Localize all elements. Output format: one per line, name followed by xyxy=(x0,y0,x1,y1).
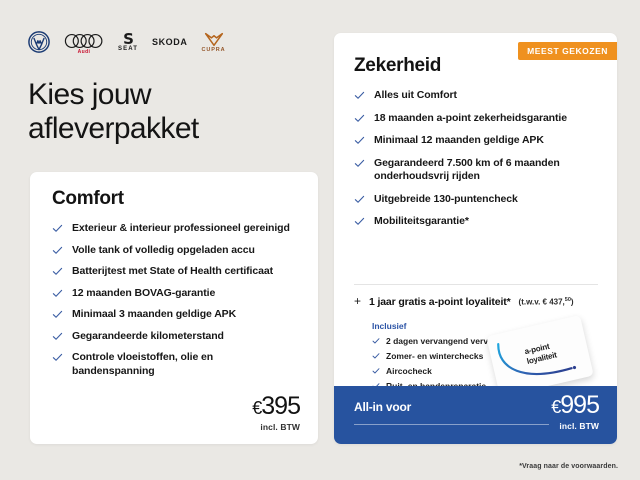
feature-text: Batterijtest met State of Health certifi… xyxy=(72,265,273,279)
feature-text: 12 maanden BOVAG-garantie xyxy=(72,287,215,301)
check-icon xyxy=(52,331,63,342)
check-icon xyxy=(52,288,63,299)
comfort-price-block: €395 incl. BTW xyxy=(252,393,300,432)
audi-wordmark: Audi xyxy=(78,49,91,55)
currency-symbol: € xyxy=(551,397,560,417)
list-item: Minimaal 3 maanden geldige APK xyxy=(52,308,298,322)
check-icon xyxy=(52,309,63,320)
plus-icon: + xyxy=(354,295,361,307)
check-icon xyxy=(52,223,63,234)
check-icon xyxy=(354,194,365,205)
status-badge: MEEST GEKOZEN xyxy=(518,42,617,60)
skoda-logo-icon: SKODA xyxy=(152,37,188,47)
feature-text: Exterieur & interieur professioneel gere… xyxy=(72,222,290,236)
list-item: 18 maanden a-point zekerheidsgarantie xyxy=(354,112,598,126)
seat-logo-icon: S SEAT xyxy=(118,33,138,52)
all-in-price-note: incl. BTW xyxy=(551,421,599,431)
seat-wordmark: SEAT xyxy=(118,46,138,52)
check-icon xyxy=(52,352,63,363)
zekerheid-package-card[interactable]: MEEST GEKOZEN Zekerheid Alles uit Comfor… xyxy=(334,33,617,444)
loyalty-bonus-row: + 1 jaar gratis a-point loyaliteit* (t.w… xyxy=(354,295,604,308)
list-item: Gegarandeerde kilometerstand xyxy=(52,330,298,344)
check-icon xyxy=(52,245,63,256)
skoda-wordmark: SKODA xyxy=(152,37,188,47)
audi-logo-icon: Audi xyxy=(64,30,104,55)
check-icon xyxy=(52,266,63,277)
inclusief-text: Aircocheck xyxy=(386,366,432,377)
feature-text: Uitgebreide 130-puntencheck xyxy=(374,193,518,207)
list-item: Gegarandeerd 7.500 km of 6 maanden onder… xyxy=(354,157,598,184)
check-icon xyxy=(354,135,365,146)
feature-text: Controle vloeistoffen, olie en bandenspa… xyxy=(72,351,298,378)
currency-symbol: € xyxy=(252,398,261,418)
seat-mark: S xyxy=(123,33,133,46)
price-value: 395 xyxy=(261,392,300,420)
page-title: Kies jouw afleverpakket xyxy=(28,78,308,146)
check-icon xyxy=(372,367,380,375)
feature-text: Mobiliteitsgarantie* xyxy=(374,215,469,229)
cupra-wordmark: CUPRA xyxy=(201,47,225,53)
price-value: 995 xyxy=(560,391,599,419)
all-in-price-bar: All-in voor €995 incl. BTW xyxy=(334,386,617,444)
section-divider xyxy=(354,284,598,285)
comfort-price-amount: €395 xyxy=(252,393,300,421)
list-item: Batterijtest met State of Health certifi… xyxy=(52,265,298,279)
inclusief-text: 2 dagen vervangend vervoer xyxy=(386,336,501,347)
pricing-comparison-page: Audi S SEAT SKODA CUPRA Kies jouw afleve… xyxy=(0,0,640,480)
list-item: Uitgebreide 130-puntencheck xyxy=(354,193,598,207)
cupra-logo-icon: CUPRA xyxy=(201,32,225,53)
list-item: Mobiliteitsgarantie* xyxy=(354,215,598,229)
zekerheid-title: Zekerheid xyxy=(354,55,441,77)
brand-logo-bar: Audi S SEAT SKODA CUPRA xyxy=(28,28,226,56)
bonus-value-suffix: ) xyxy=(571,298,574,307)
zekerheid-feature-list: Alles uit Comfort 18 maanden a-point zek… xyxy=(354,89,598,238)
list-item: Controle vloeistoffen, olie en bandenspa… xyxy=(52,351,298,378)
comfort-feature-list: Exterieur & interieur professioneel gere… xyxy=(52,222,298,386)
list-item: Minimaal 12 maanden geldige APK xyxy=(354,134,598,148)
check-icon xyxy=(372,352,380,360)
feature-text: Alles uit Comfort xyxy=(374,89,457,103)
loyalty-bonus-label: 1 jaar gratis a-point loyaliteit* xyxy=(369,296,511,308)
footer-divider xyxy=(354,424,549,425)
all-in-price-amount: €995 xyxy=(551,392,599,420)
inclusief-text: Zomer- en winterchecks xyxy=(386,351,483,362)
comfort-price-note: incl. BTW xyxy=(252,422,300,432)
check-icon xyxy=(372,337,380,345)
volkswagen-logo-icon xyxy=(28,31,50,53)
bonus-value-prefix: (t.w.v. € 437, xyxy=(519,298,565,307)
check-icon xyxy=(354,90,365,101)
feature-text: Minimaal 3 maanden geldige APK xyxy=(72,308,236,322)
comfort-title: Comfort xyxy=(52,188,124,210)
comfort-package-card[interactable]: Comfort Exterieur & interieur profession… xyxy=(30,172,318,444)
list-item: Alles uit Comfort xyxy=(354,89,598,103)
disclaimer-text: *Vraag naar de voorwaarden. xyxy=(519,463,618,470)
feature-text: Minimaal 12 maanden geldige APK xyxy=(374,134,544,148)
list-item: Exterieur & interieur professioneel gere… xyxy=(52,222,298,236)
check-icon xyxy=(354,158,365,169)
check-icon xyxy=(354,216,365,227)
all-in-price-block: €995 incl. BTW xyxy=(551,392,599,431)
loyalty-bonus-value: (t.w.v. € 437,50) xyxy=(519,297,574,307)
list-item: 12 maanden BOVAG-garantie xyxy=(52,287,298,301)
feature-text: 18 maanden a-point zekerheidsgarantie xyxy=(374,112,567,126)
feature-text: Gegarandeerde kilometerstand xyxy=(72,330,224,344)
feature-text: Gegarandeerd 7.500 km of 6 maanden onder… xyxy=(374,157,598,184)
feature-text: Volle tank of volledig opgeladen accu xyxy=(72,244,255,258)
check-icon xyxy=(354,113,365,124)
list-item: Volle tank of volledig opgeladen accu xyxy=(52,244,298,258)
all-in-label: All-in voor xyxy=(354,400,411,414)
